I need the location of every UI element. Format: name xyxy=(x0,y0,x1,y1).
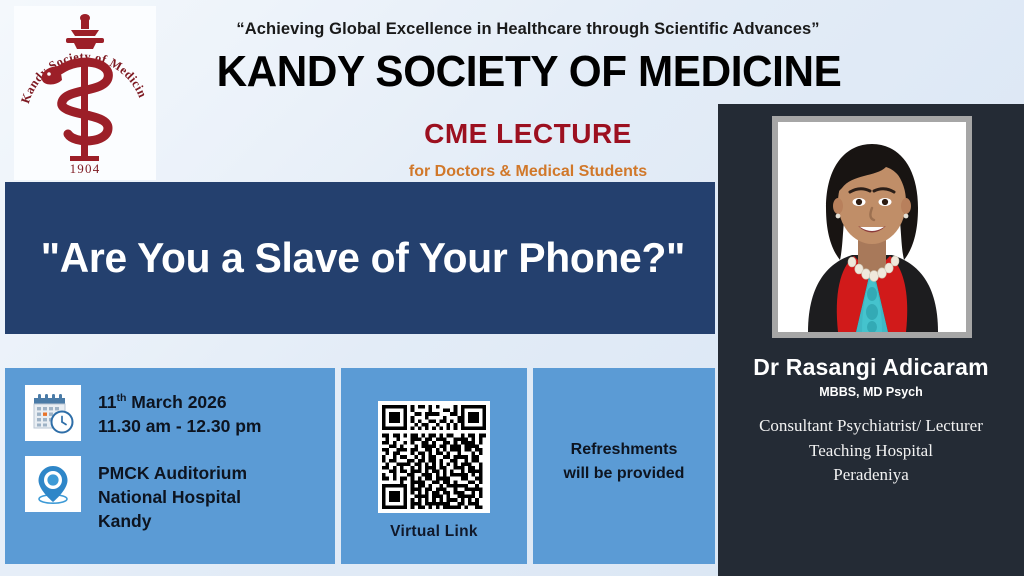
calendar-clock-icon xyxy=(25,385,81,441)
venue-line-2: National Hospital xyxy=(98,485,247,509)
refreshments-text: Refreshments will be provided xyxy=(533,438,715,486)
datetime-row: 11th March 2026 11.30 am - 12.30 pm xyxy=(25,385,261,441)
map-pin-icon xyxy=(25,456,81,512)
lecture-title-banner: "Are You a Slave of Your Phone?" xyxy=(5,182,715,334)
society-logo: Kandy Society of Medicine 1904 xyxy=(14,6,156,180)
rod-of-asclepius-logo: Kandy Society of Medicine 1904 xyxy=(16,8,154,178)
venue-line-1: PMCK Auditorium xyxy=(98,461,247,485)
virtual-link-panel[interactable]: Virtual Link xyxy=(341,368,527,564)
refreshments-line-1: Refreshments xyxy=(533,438,715,462)
lecture-title: "Are You a Slave of Your Phone?" xyxy=(16,234,705,282)
refreshments-panel: Refreshments will be provided xyxy=(533,368,715,564)
venue-text: PMCK Auditorium National Hospital Kandy xyxy=(98,456,247,533)
speaker-affiliation: Consultant Psychiatrist/ Lecturer Teachi… xyxy=(718,414,1024,488)
virtual-link-label: Virtual Link xyxy=(341,523,527,541)
cme-lecture-poster: Kandy Society of Medicine 1904 “Achievin… xyxy=(0,0,1024,576)
affiliation-line-1: Consultant Psychiatrist/ Lecturer xyxy=(718,414,1024,439)
target-audience-label: for Doctors & Medical Students xyxy=(358,163,698,181)
affiliation-line-2: Teaching Hospital xyxy=(718,439,1024,464)
society-tagline: “Achieving Global Excellence in Healthca… xyxy=(178,20,878,39)
event-type-label: CME LECTURE xyxy=(358,118,698,150)
venue-line-3: Kandy xyxy=(98,509,247,533)
venue-row: PMCK Auditorium National Hospital Kandy xyxy=(25,456,247,533)
organization-title: KANDY SOCIETY OF MEDICINE xyxy=(182,47,875,97)
speaker-panel: Dr Rasangi Adicaram MBBS, MD Psych Consu… xyxy=(718,104,1024,576)
affiliation-line-3: Peradeniya xyxy=(718,463,1024,488)
svg-text:1904: 1904 xyxy=(70,161,101,176)
speaker-qualifications: MBBS, MD Psych xyxy=(718,385,1024,399)
event-date: 11th March 2026 xyxy=(98,390,261,414)
event-time: 11.30 am - 12.30 pm xyxy=(98,414,261,438)
datetime-text: 11th March 2026 11.30 am - 12.30 pm xyxy=(98,385,261,438)
qr-code[interactable] xyxy=(378,401,490,513)
speaker-portrait xyxy=(778,122,966,332)
refreshments-line-2: will be provided xyxy=(533,462,715,486)
datetime-venue-panel: 11th March 2026 11.30 am - 12.30 pm PMCK… xyxy=(5,368,335,564)
speaker-name: Dr Rasangi Adicaram xyxy=(718,354,1024,381)
speaker-photo-frame xyxy=(772,116,972,338)
